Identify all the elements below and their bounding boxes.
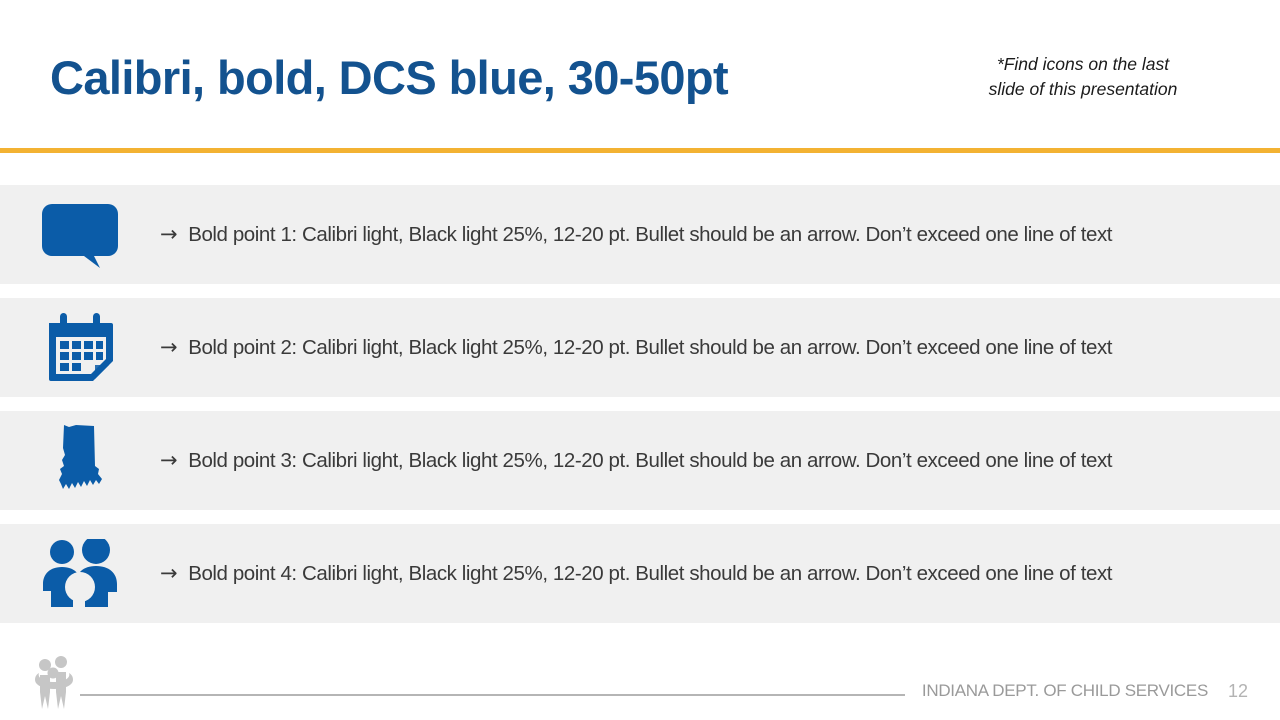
- family-icon: [0, 524, 160, 623]
- footer-organization: INDIANA DEPT. OF CHILD SERVICES: [922, 681, 1208, 701]
- list-item[interactable]: →Bold point 2: Calibri light, Black ligh…: [0, 298, 1280, 397]
- list-item-text-wrap: →Bold point 2: Calibri light, Black ligh…: [160, 334, 1280, 361]
- list-item[interactable]: →Bold point 3: Calibri light, Black ligh…: [0, 411, 1280, 510]
- indiana-state-icon: [0, 411, 160, 510]
- list-item-label: Bold point 2: Calibri light, Black light…: [188, 336, 1112, 359]
- list-item-label: Bold point 1: Calibri light, Black light…: [188, 223, 1112, 246]
- footer-divider: [80, 694, 905, 696]
- slide-canvas: Calibri, bold, DCS blue, 30-50pt *Find i…: [0, 0, 1280, 720]
- list-item[interactable]: →Bold point 1: Calibri light, Black ligh…: [0, 185, 1280, 284]
- calendar-icon: [0, 298, 160, 397]
- header-note-line-1: *Find icons on the last: [948, 52, 1218, 77]
- arrow-bullet-icon: →: [160, 221, 177, 247]
- arrow-bullet-icon: →: [160, 334, 177, 360]
- list-item-label: Bold point 4: Calibri light, Black light…: [188, 562, 1112, 585]
- arrow-bullet-icon: →: [160, 560, 177, 586]
- list-item-text-wrap: →Bold point 4: Calibri light, Black ligh…: [160, 560, 1280, 587]
- page-number: 12: [1228, 681, 1248, 702]
- header-note: *Find icons on the last slide of this pr…: [948, 52, 1218, 102]
- header-note-line-2: slide of this presentation: [948, 77, 1218, 102]
- speech-bubble-icon: [0, 185, 160, 284]
- bullet-rows: →Bold point 1: Calibri light, Black ligh…: [0, 185, 1280, 637]
- list-item-label: Bold point 3: Calibri light, Black light…: [188, 449, 1112, 472]
- page-title: Calibri, bold, DCS blue, 30-50pt: [50, 50, 880, 106]
- dcs-people-logo-icon: [28, 654, 80, 715]
- gold-divider: [0, 148, 1280, 153]
- list-item[interactable]: →Bold point 4: Calibri light, Black ligh…: [0, 524, 1280, 623]
- list-item-text-wrap: →Bold point 1: Calibri light, Black ligh…: [160, 221, 1280, 248]
- list-item-text-wrap: →Bold point 3: Calibri light, Black ligh…: [160, 447, 1280, 474]
- slide-footer: INDIANA DEPT. OF CHILD SERVICES 12: [0, 648, 1280, 720]
- arrow-bullet-icon: →: [160, 447, 177, 473]
